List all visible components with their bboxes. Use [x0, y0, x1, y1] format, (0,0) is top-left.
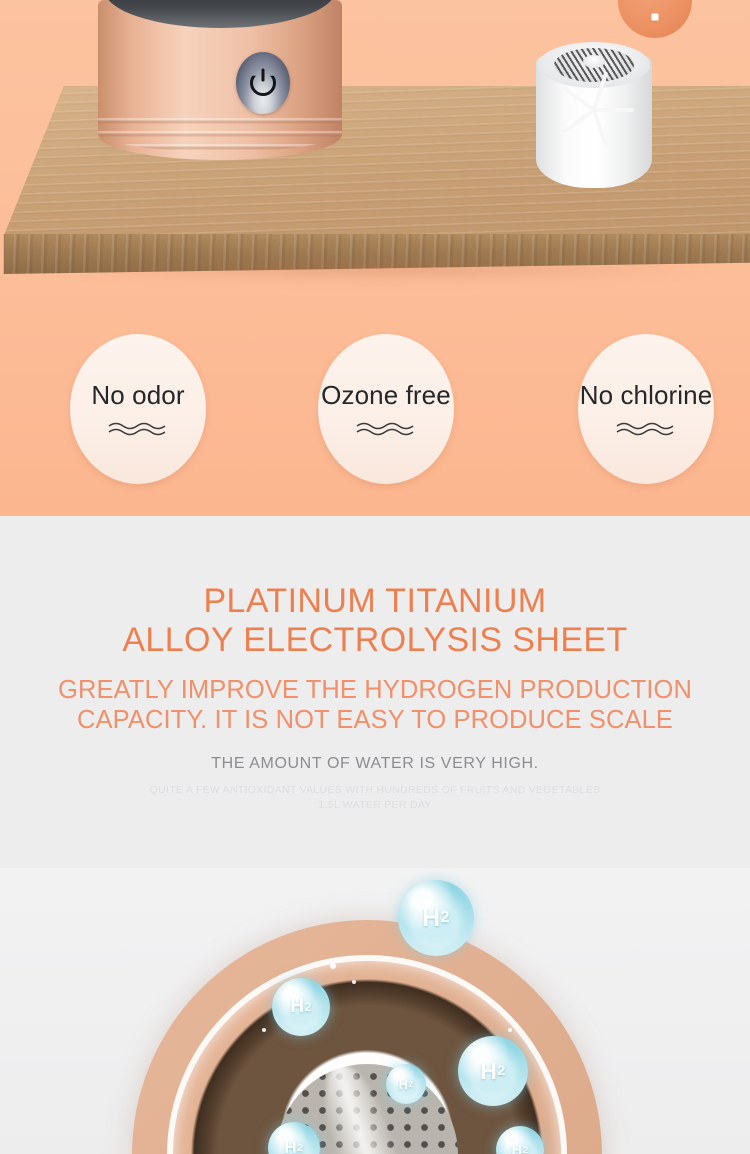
feature-badge-group: No odor Ozone free No chlorine: [0, 334, 750, 484]
wave-icon: [615, 420, 677, 436]
feature-badge-label: Ozone free: [321, 382, 451, 409]
device-base-rings: [98, 118, 342, 152]
filter-spoke: [594, 108, 634, 112]
water-droplet: [262, 1028, 266, 1032]
device-top-view: [132, 920, 602, 1154]
water-droplet: [508, 1028, 512, 1032]
hydrogen-bubble-label: H: [480, 1058, 497, 1085]
feature-badge-no-odor: No odor: [70, 334, 206, 484]
headline-line-2: ALLOY ELECTROLYSIS SHEET: [122, 621, 627, 659]
filter-cartridge-product: [536, 28, 652, 188]
hydrogen-bubble-sub: 2: [408, 1080, 413, 1089]
feature-badge-ozone-free: Ozone free: [318, 334, 454, 484]
hydrogen-bubble: H2: [398, 880, 474, 956]
wave-icon: [107, 420, 169, 436]
hydrogen-bubble: H2: [386, 1064, 426, 1104]
hydrogen-bubble-label: H: [399, 1077, 409, 1092]
hydrogen-bubble-sub: 2: [497, 1063, 505, 1079]
product-closeup-section: H2 H2 H2 H2 H2 H2: [0, 868, 750, 1154]
hydrogen-bubble-label: H: [284, 1138, 297, 1154]
subheadline-line-1: GREATLY IMPROVE THE HYDROGEN PRODUCTION: [58, 676, 692, 704]
hydrogen-bubble-sub: 2: [441, 909, 450, 927]
feature-badge-label: No odor: [91, 382, 184, 409]
hydrogen-bubble-sub: 2: [305, 1001, 312, 1014]
subheadline: GREATLY IMPROVE THE HYDROGEN PRODUCTION …: [0, 675, 750, 736]
marketing-text-section: PLATINUM TITANIUM ALLOY ELECTROLYSIS SHE…: [0, 516, 750, 868]
headline-line-1: PLATINUM TITANIUM: [203, 582, 546, 620]
water-droplet: [470, 986, 475, 991]
water-droplet: [352, 980, 356, 984]
hydrogen-bubble-sub: 2: [297, 1142, 303, 1154]
water-amount-text: THE AMOUNT OF WATER IS VERY HIGH.: [0, 755, 750, 773]
water-droplet: [330, 963, 336, 969]
fineprint-text: QUITE A FEW ANTIOXIDANT VALUES WITH HUND…: [0, 783, 750, 813]
hydrogen-bubble: H2: [272, 978, 330, 1036]
power-button[interactable]: [236, 52, 290, 114]
feature-badge-no-chlorine: No chlorine: [578, 334, 714, 484]
power-icon-stem: [262, 69, 265, 82]
hydrogen-bubble-label: H: [422, 904, 441, 933]
hydrogen-bubble: H2: [458, 1036, 528, 1106]
hydrogen-bubble-label: H: [290, 996, 304, 1018]
fineprint-line-2: 1.5L WATER PER DAY: [318, 799, 431, 811]
fineprint-line-1: QUITE A FEW ANTIOXIDANT VALUES WITH HUND…: [150, 784, 601, 796]
hydrogen-bubble-label: H: [511, 1142, 522, 1154]
product-marketing-page: No odor Ozone free No chlorine: [0, 0, 750, 1154]
wave-icon: [355, 420, 417, 436]
feature-badge-label: No chlorine: [571, 382, 721, 409]
subheadline-line-2: CAPACITY. IT IS NOT EASY TO PRODUCE SCAL…: [77, 706, 673, 734]
shelf-shadow: [40, 256, 720, 282]
hydrogen-bubble-sub: 2: [523, 1145, 529, 1154]
hydrogen-generator-product: [98, 0, 342, 192]
hero-section: No odor Ozone free No chlorine: [0, 0, 750, 516]
headline: PLATINUM TITANIUM ALLOY ELECTROLYSIS SHE…: [0, 582, 750, 661]
filter-hub: [583, 55, 605, 68]
